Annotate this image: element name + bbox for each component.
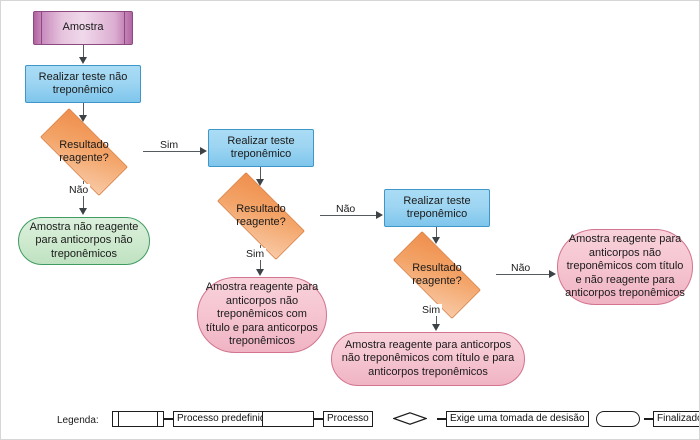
predefined-process-icon (112, 411, 164, 427)
flowchart-canvas: Amostra Realizar teste não treponêmico R… (0, 0, 700, 440)
arrow-down-icon (79, 115, 87, 122)
edge-label-d3-sim: Sim (420, 304, 442, 316)
decision-icon (385, 411, 437, 427)
node-realizar-teste-treponemico-2[interactable]: Realizar teste treponêmico (384, 189, 490, 227)
arrow-right-icon (549, 270, 556, 278)
node-amostra-reagente-2-label: Amostra reagente para anticorpos não tre… (342, 339, 514, 379)
legend-label-finalizador: Finalizador (653, 411, 700, 427)
edge-label-d3-nao: Não (509, 262, 532, 274)
arrow-down-icon (256, 269, 264, 276)
node-realizar-teste-nao-treponemico-label: Realizar teste não treponêmico (39, 71, 128, 98)
node-amostra-label: Amostra (63, 21, 104, 34)
node-decision-resultado-reagente-3[interactable]: Resultado reagente? (378, 246, 496, 304)
node-decision-resultado-reagente-1[interactable]: Resultado reagente? (25, 123, 143, 181)
node-decision-resultado-reagente-2[interactable]: Resultado reagente? (202, 187, 320, 245)
connector-decision3-nao (496, 274, 550, 275)
legend-connector (164, 418, 173, 419)
node-realizar-teste-nao-treponemico[interactable]: Realizar teste não treponêmico (25, 65, 141, 103)
arrow-down-icon (432, 324, 440, 331)
node-decision-resultado-reagente-2-label: Resultado reagente? (236, 203, 286, 230)
connector-decision2-nao (320, 215, 377, 216)
connector-test2-to-decision2 (260, 167, 261, 179)
node-amostra-reagente-1-label: Amostra reagente para anticorpos não tre… (206, 281, 319, 348)
node-amostra-nao-reagente[interactable]: Amostra não reagente para anticorpos não… (18, 217, 150, 265)
legend-item-processo-predefinido: Processo predefinido (112, 411, 275, 427)
connector-decision1-sim (143, 151, 201, 152)
legend-item-processo: Processo (262, 411, 373, 427)
node-realizar-teste-treponemico-1[interactable]: Realizar teste treponêmico (208, 129, 314, 167)
node-amostra-reagente-nao-reagente-treponemicos[interactable]: Amostra reagente para anticorpos não tre… (557, 229, 693, 305)
node-decision-resultado-reagente-1-label: Resultado reagente? (59, 139, 109, 166)
arrow-down-icon (432, 237, 440, 244)
arrow-down-icon (79, 57, 87, 64)
node-amostra-reagente-1[interactable]: Amostra reagente para anticorpos não tre… (197, 277, 327, 353)
legend-label-processo: Processo (323, 411, 373, 427)
legend-item-decisao: Exige uma tomada de desisão (385, 411, 589, 427)
connector-test1-to-decision1 (83, 103, 84, 115)
node-decision-resultado-reagente-3-label: Resultado reagente? (412, 262, 462, 289)
arrow-right-icon (376, 211, 383, 219)
node-amostra-reagente-2[interactable]: Amostra reagente para anticorpos não tre… (331, 332, 525, 386)
edge-label-d1-nao: Não (67, 184, 90, 196)
node-realizar-teste-treponemico-1-label: Realizar teste treponêmico (227, 135, 294, 162)
legend-title: Legenda: (57, 415, 99, 426)
node-amostra[interactable]: Amostra (33, 11, 133, 45)
legend-connector (314, 418, 323, 419)
legend: Legenda: Processo predefinido Processo E… (1, 405, 699, 439)
node-realizar-teste-treponemico-2-label: Realizar teste treponêmico (403, 195, 470, 222)
legend-connector (437, 418, 446, 419)
arrow-down-icon (79, 208, 87, 215)
legend-item-finalizador: Finalizador (592, 411, 700, 427)
legend-connector (644, 418, 653, 419)
edge-label-d2-sim: Sim (244, 248, 266, 260)
edge-label-d1-sim: Sim (158, 139, 180, 151)
arrow-down-icon (256, 179, 264, 186)
legend-label-decisao: Exige uma tomada de desisão (446, 411, 589, 427)
node-amostra-reagente-nao-reagente-treponemicos-label: Amostra reagente para anticorpos não tre… (565, 233, 685, 300)
legend-label-processo-predefinido: Processo predefinido (173, 411, 275, 427)
arrow-right-icon (200, 147, 207, 155)
process-icon (262, 411, 314, 427)
terminator-icon (592, 411, 644, 427)
edge-label-d2-nao: Não (334, 203, 357, 215)
node-amostra-nao-reagente-label: Amostra não reagente para anticorpos não… (30, 221, 139, 261)
